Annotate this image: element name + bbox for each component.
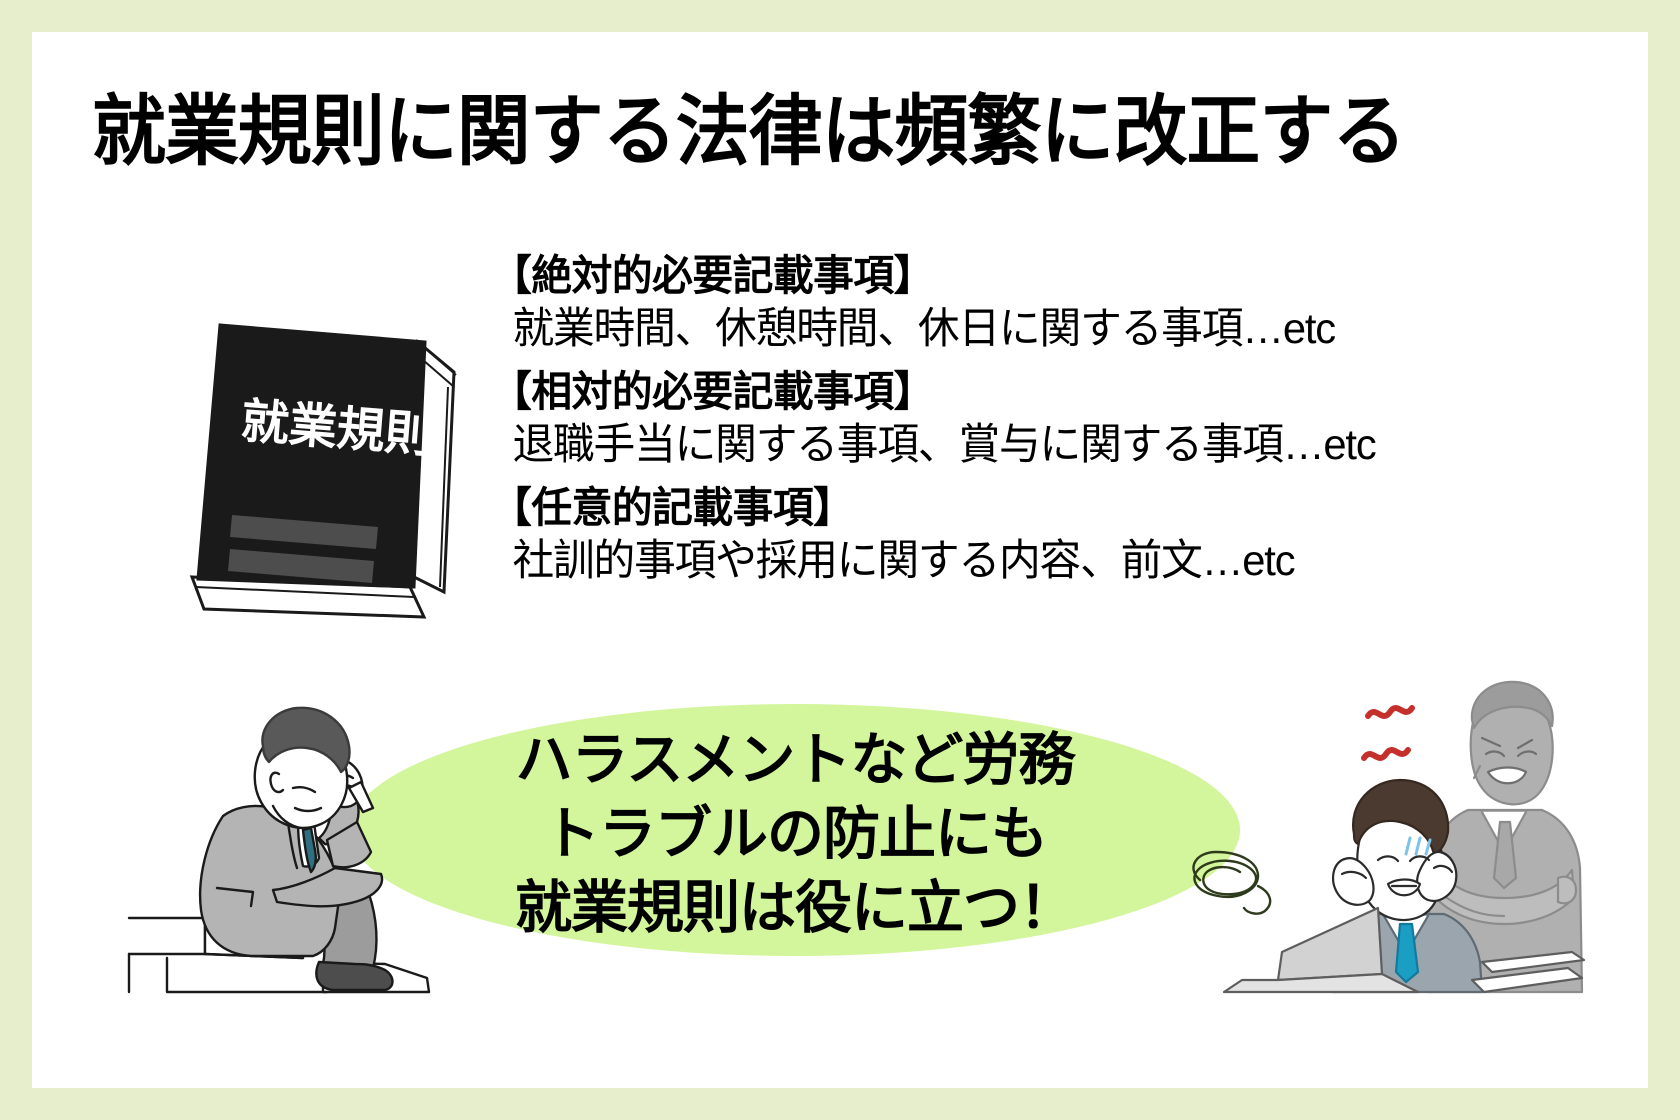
work-rules-book-illustration: 就業規則: [182, 287, 462, 632]
section-relative-required: 【相対的必要記載事項】 退職手当に関する事項、賞与に関する事項…etc: [462, 366, 1552, 474]
section-body: 就業時間、休憩時間、休日に関する事項…etc: [462, 301, 1519, 358]
stressed-employee-and-boss-illustration: [1182, 662, 1602, 992]
callout-line-1: ハラスメントなど労務: [516, 723, 1075, 797]
section-body: 退職手当に関する事項、賞与に関する事項…etc: [462, 417, 1519, 474]
section-heading: 【相対的必要記載事項】: [462, 366, 1519, 417]
page-title: 就業規則に関する法律は頻繁に改正する: [92, 94, 1436, 171]
section-body: 社訓的事項や採用に関する内容、前文…etc: [462, 533, 1519, 590]
callout-text-block: ハラスメントなど労務 トラブルの防止にも 就業規則は役に立つ！: [350, 714, 1240, 954]
slide-canvas: 就業規則に関する法律は頻繁に改正する: [32, 32, 1648, 1088]
section-optional: 【任意的記載事項】 社訓的事項や採用に関する内容、前文…etc: [462, 482, 1552, 590]
section-heading: 【任意的記載事項】: [462, 482, 1519, 533]
section-heading: 【絶対的必要記載事項】: [462, 250, 1519, 301]
callout-line-3: 就業規則は役に立つ！: [515, 871, 1075, 945]
section-absolute-required: 【絶対的必要記載事項】 就業時間、休憩時間、休日に関する事項…etc: [462, 250, 1552, 358]
callout-line-2: トラブルの防止にも: [543, 797, 1047, 871]
slide-frame: 就業規則に関する法律は頻繁に改正する: [0, 0, 1680, 1120]
records-sections-list: 【絶対的必要記載事項】 就業時間、休憩時間、休日に関する事項…etc 【相対的必…: [462, 250, 1552, 598]
